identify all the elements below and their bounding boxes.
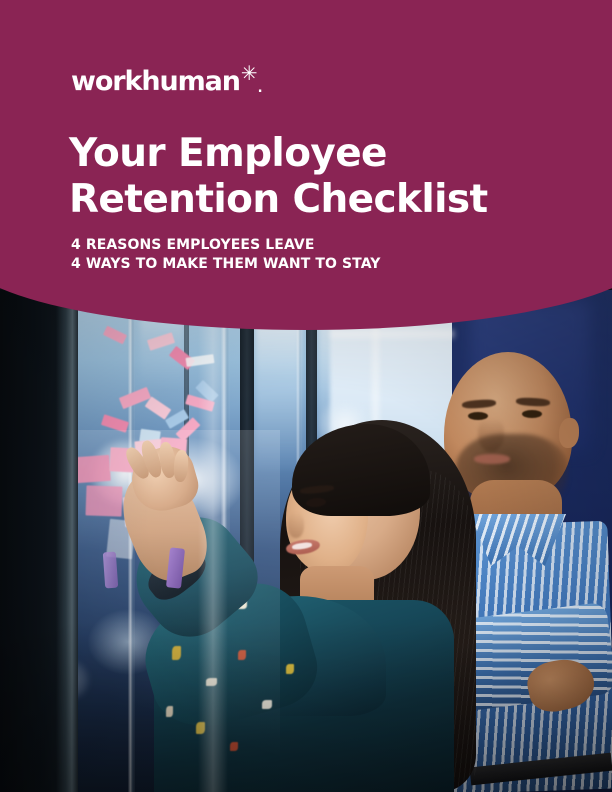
page-title-line-2: Retention Checklist [69, 177, 488, 223]
asterisk-icon: ✳ [241, 63, 257, 83]
person-man-eye [522, 410, 542, 418]
sticky-note [85, 485, 122, 516]
page-subtitle-line-2: 4 WAYS TO MAKE THEM WANT TO STAY [71, 255, 381, 274]
jacket-embroidery [262, 700, 272, 709]
jacket-embroidery [166, 706, 173, 717]
page-subtitle: 4 REASONS EMPLOYEES LEAVE 4 WAYS TO MAKE… [71, 236, 381, 274]
jacket-embroidery [172, 646, 181, 660]
person-woman-nose [288, 512, 304, 538]
jacket-embroidery [196, 722, 205, 734]
jacket-embroidery [206, 678, 217, 686]
page-subtitle-line-1: 4 REASONS EMPLOYEES LEAVE [71, 236, 381, 255]
trademark-dot-icon: . [258, 82, 262, 95]
jacket-embroidery [238, 650, 246, 660]
person-man-ear [559, 418, 579, 448]
hero-content: workhuman✳. Your Employee Retention Chec… [0, 0, 612, 340]
logo-wordmark: workhuman [71, 68, 240, 95]
page-title-line-1: Your Employee [69, 131, 387, 176]
jacket-embroidery [230, 742, 238, 751]
page-title: Your Employee Retention Checklist [69, 131, 488, 223]
sticky-note [75, 455, 111, 483]
jacket-embroidery [286, 664, 294, 674]
workhuman-logo[interactable]: workhuman✳. [71, 68, 261, 95]
person-man-mouth [474, 454, 510, 464]
mullion-edge-left [56, 290, 78, 792]
cover-page: workhuman✳. Your Employee Retention Chec… [0, 0, 612, 792]
marker-pen-reflection [103, 552, 118, 589]
